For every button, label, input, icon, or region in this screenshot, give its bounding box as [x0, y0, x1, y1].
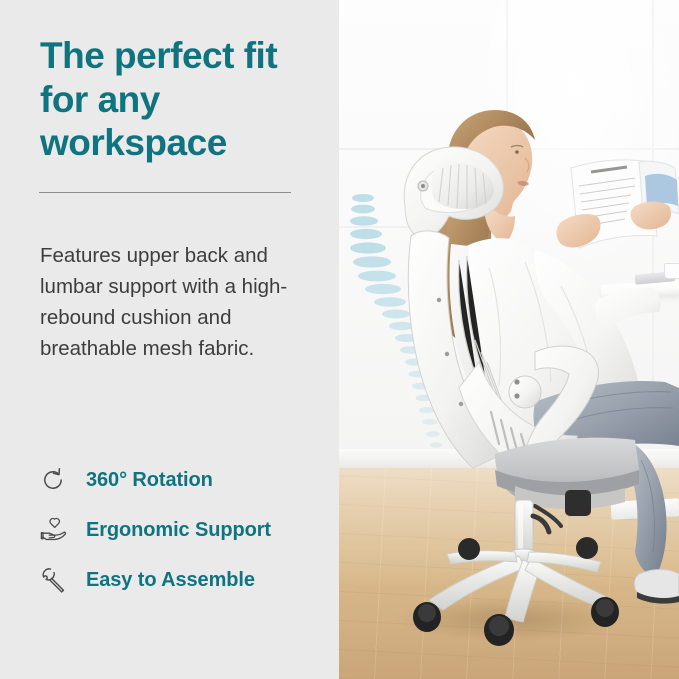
feature-label-assemble: Easy to Assemble [86, 569, 255, 592]
wrench-icon [40, 563, 78, 597]
caster [591, 597, 619, 627]
body-copy: Features upper back and lumbar support w… [40, 240, 305, 365]
feature-item-rotation: 360° Rotation [40, 455, 330, 505]
page-title: The perfect fit for any workspace [40, 34, 315, 165]
feature-label-rotation: 360° Rotation [86, 469, 213, 492]
caster [458, 538, 480, 560]
product-lifestyle-photo [339, 0, 679, 679]
banner-canvas: The perfect fit for any workspace Featur… [0, 0, 679, 679]
chair-and-person [339, 0, 679, 679]
chair-base [413, 537, 619, 646]
feature-list: 360° Rotation Ergonomic Support [40, 455, 330, 605]
caster [413, 602, 441, 632]
rotation-arrow-icon [40, 463, 78, 497]
left-text-panel: The perfect fit for any workspace Featur… [0, 0, 340, 679]
caster [576, 537, 598, 559]
feature-item-assemble: Easy to Assemble [40, 555, 330, 605]
hand-heart-icon [40, 513, 78, 547]
caster [484, 614, 514, 646]
feature-label-ergonomic: Ergonomic Support [86, 519, 271, 542]
title-divider [39, 192, 291, 193]
feature-item-ergonomic: Ergonomic Support [40, 505, 330, 555]
